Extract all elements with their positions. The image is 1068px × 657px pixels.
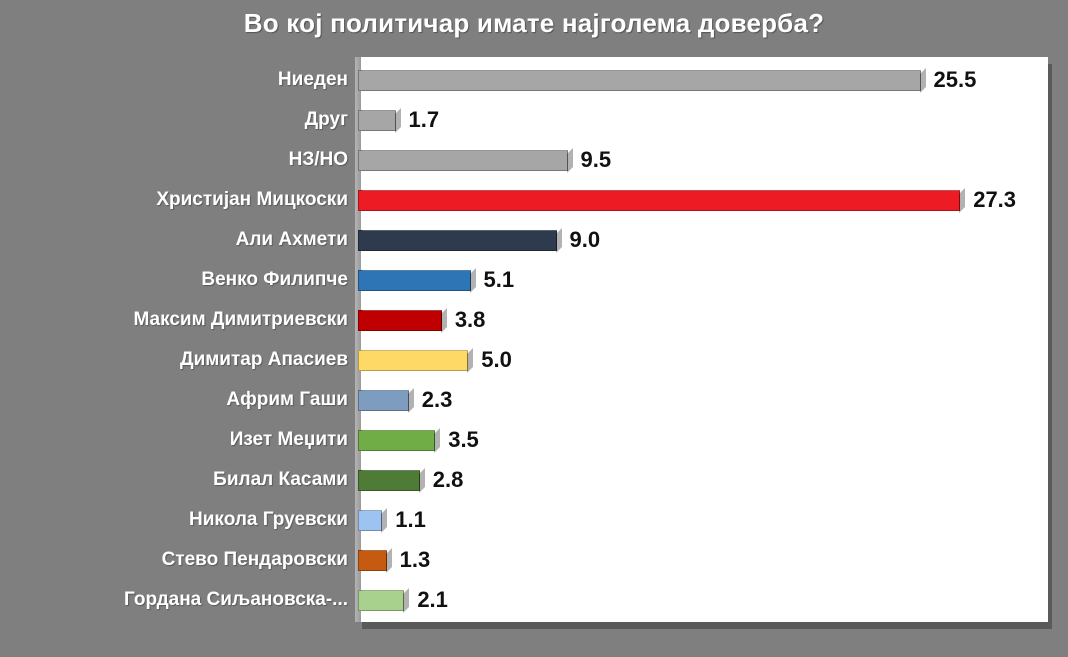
category-label-row: Билал Касами [0,460,348,500]
category-label: Венко Филипче [201,260,348,300]
category-label: Али Ахмети [236,220,348,260]
plot-area: 25.51.79.527.39.05.13.85.02.33.52.81.11.… [355,57,1048,622]
bar-value-label: 25.5 [934,67,977,93]
bar-value-label: 9.5 [581,147,612,173]
category-label: Ниеден [278,60,348,100]
bar [358,70,921,91]
bar-row: 3.8 [358,300,485,340]
category-axis-labels: НиеденДругНЗ/НОХристијан МицкоскиАли Ахм… [0,57,348,622]
category-label: Максим Димитриевски [133,300,348,340]
category-label: Билал Касами [213,460,348,500]
bar-value-label: 3.8 [455,307,486,333]
bar-value-label: 1.1 [395,507,426,533]
bar-row: 5.0 [358,340,512,380]
category-label-row: Максим Димитриевски [0,300,348,340]
bar-value-label: 2.8 [433,467,464,493]
bar-value-label: 1.3 [400,547,431,573]
bar-chart: Во кој политичар имате најголема доверба… [0,0,1068,657]
category-label: Стево Пендаровски [162,540,348,580]
category-label-row: Христијан Мицкоски [0,180,348,220]
category-label-row: Димитар Апасиев [0,340,348,380]
bar-row: 9.5 [358,140,611,180]
bar-row: 9.0 [358,220,600,260]
category-label-row: Изет Меџити [0,420,348,460]
category-label-row: Ниеден [0,60,348,100]
chart-title: Во кој политичар имате најголема доверба… [0,8,1068,39]
bar [358,550,387,571]
bar [358,350,468,371]
category-label: Изет Меџити [230,420,348,460]
bar [358,230,557,251]
bar-row: 1.1 [358,500,426,540]
bar-value-label: 1.7 [409,107,440,133]
bar [358,510,382,531]
bar [358,590,404,611]
category-label-row: НЗ/НО [0,140,348,180]
bar-value-label: 2.3 [422,387,453,413]
bar-row: 3.5 [358,420,479,460]
bar [358,190,960,211]
bar-value-label: 5.0 [481,347,512,373]
bar [358,390,409,411]
category-label: Никола Груевски [189,500,348,540]
category-label: Димитар Апасиев [180,340,348,380]
bar-row: 27.3 [358,180,1016,220]
bar [358,110,396,131]
bar-value-label: 2.1 [417,587,448,613]
category-label: Друг [305,100,348,140]
bar [358,310,442,331]
bar-row: 1.3 [358,540,430,580]
category-label-row: Стево Пендаровски [0,540,348,580]
bar-row: 2.3 [358,380,452,420]
category-label-row: Друг [0,100,348,140]
category-label: Гордана Сиљановска-... [124,580,348,620]
category-label-row: Венко Филипче [0,260,348,300]
bar-row: 25.5 [358,60,976,100]
category-label: Африм Гаши [226,380,348,420]
bar-row: 1.7 [358,100,439,140]
category-label-row: Никола Груевски [0,500,348,540]
category-label-row: Гордана Сиљановска-... [0,580,348,620]
bar-row: 2.1 [358,580,448,620]
category-label-row: Али Ахмети [0,220,348,260]
category-label: НЗ/НО [289,140,348,180]
bar [358,430,435,451]
bar-row: 5.1 [358,260,514,300]
category-label: Христијан Мицкоски [156,180,348,220]
bar [358,470,420,491]
bar [358,270,471,291]
category-label-row: Африм Гаши [0,380,348,420]
bar [358,150,568,171]
bar-value-label: 3.5 [448,427,479,453]
bar-value-label: 9.0 [570,227,601,253]
bar-value-label: 5.1 [484,267,515,293]
bar-row: 2.8 [358,460,463,500]
bar-value-label: 27.3 [973,187,1016,213]
